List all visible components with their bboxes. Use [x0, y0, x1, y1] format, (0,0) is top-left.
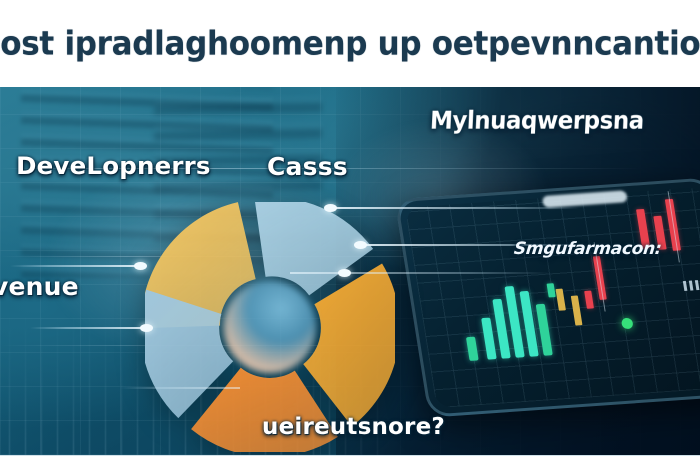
- leader-line-bottom: [120, 387, 240, 389]
- callout-mid-right: Smgufarmacon:: [513, 239, 663, 259]
- page-title: Cost ipradlaghoomenp up oetpevnncantion: [0, 24, 700, 62]
- bottom-white-strip: [0, 455, 700, 470]
- leader-line-costs: [330, 207, 580, 209]
- leader-dot-costs: [324, 204, 337, 212]
- callout-bottom: ueireutsnore?: [262, 414, 445, 440]
- callout-costs: Casss: [267, 152, 348, 181]
- screenshot-canvas: Cost ipradlaghoomenp up oetpevnncantion: [0, 0, 700, 470]
- callout-developers: DeveLopnerrs: [16, 152, 211, 180]
- leader-line-revenue: [10, 265, 140, 267]
- phone-screen: [405, 187, 700, 408]
- leader-line-mid: [290, 272, 550, 274]
- infographic-image: [0, 87, 700, 455]
- leader-dot-revenue: [134, 262, 147, 270]
- page-title-band: Cost ipradlaghoomenp up oetpevnncantion: [0, 0, 700, 87]
- smartphone-device: [394, 177, 700, 417]
- bottom-divider-line: [0, 455, 700, 456]
- leader-line-developers: [30, 327, 148, 329]
- callout-top-right: Mylnuaqwerpsna: [429, 107, 644, 136]
- leader-dot-developers: [140, 324, 153, 332]
- leader-dot-mid: [338, 269, 351, 277]
- leader-dot-top-right: [354, 241, 367, 249]
- phone-tick-dots: [683, 280, 700, 291]
- donut-center-hub: [224, 281, 316, 373]
- callout-revenue: venue: [0, 272, 79, 301]
